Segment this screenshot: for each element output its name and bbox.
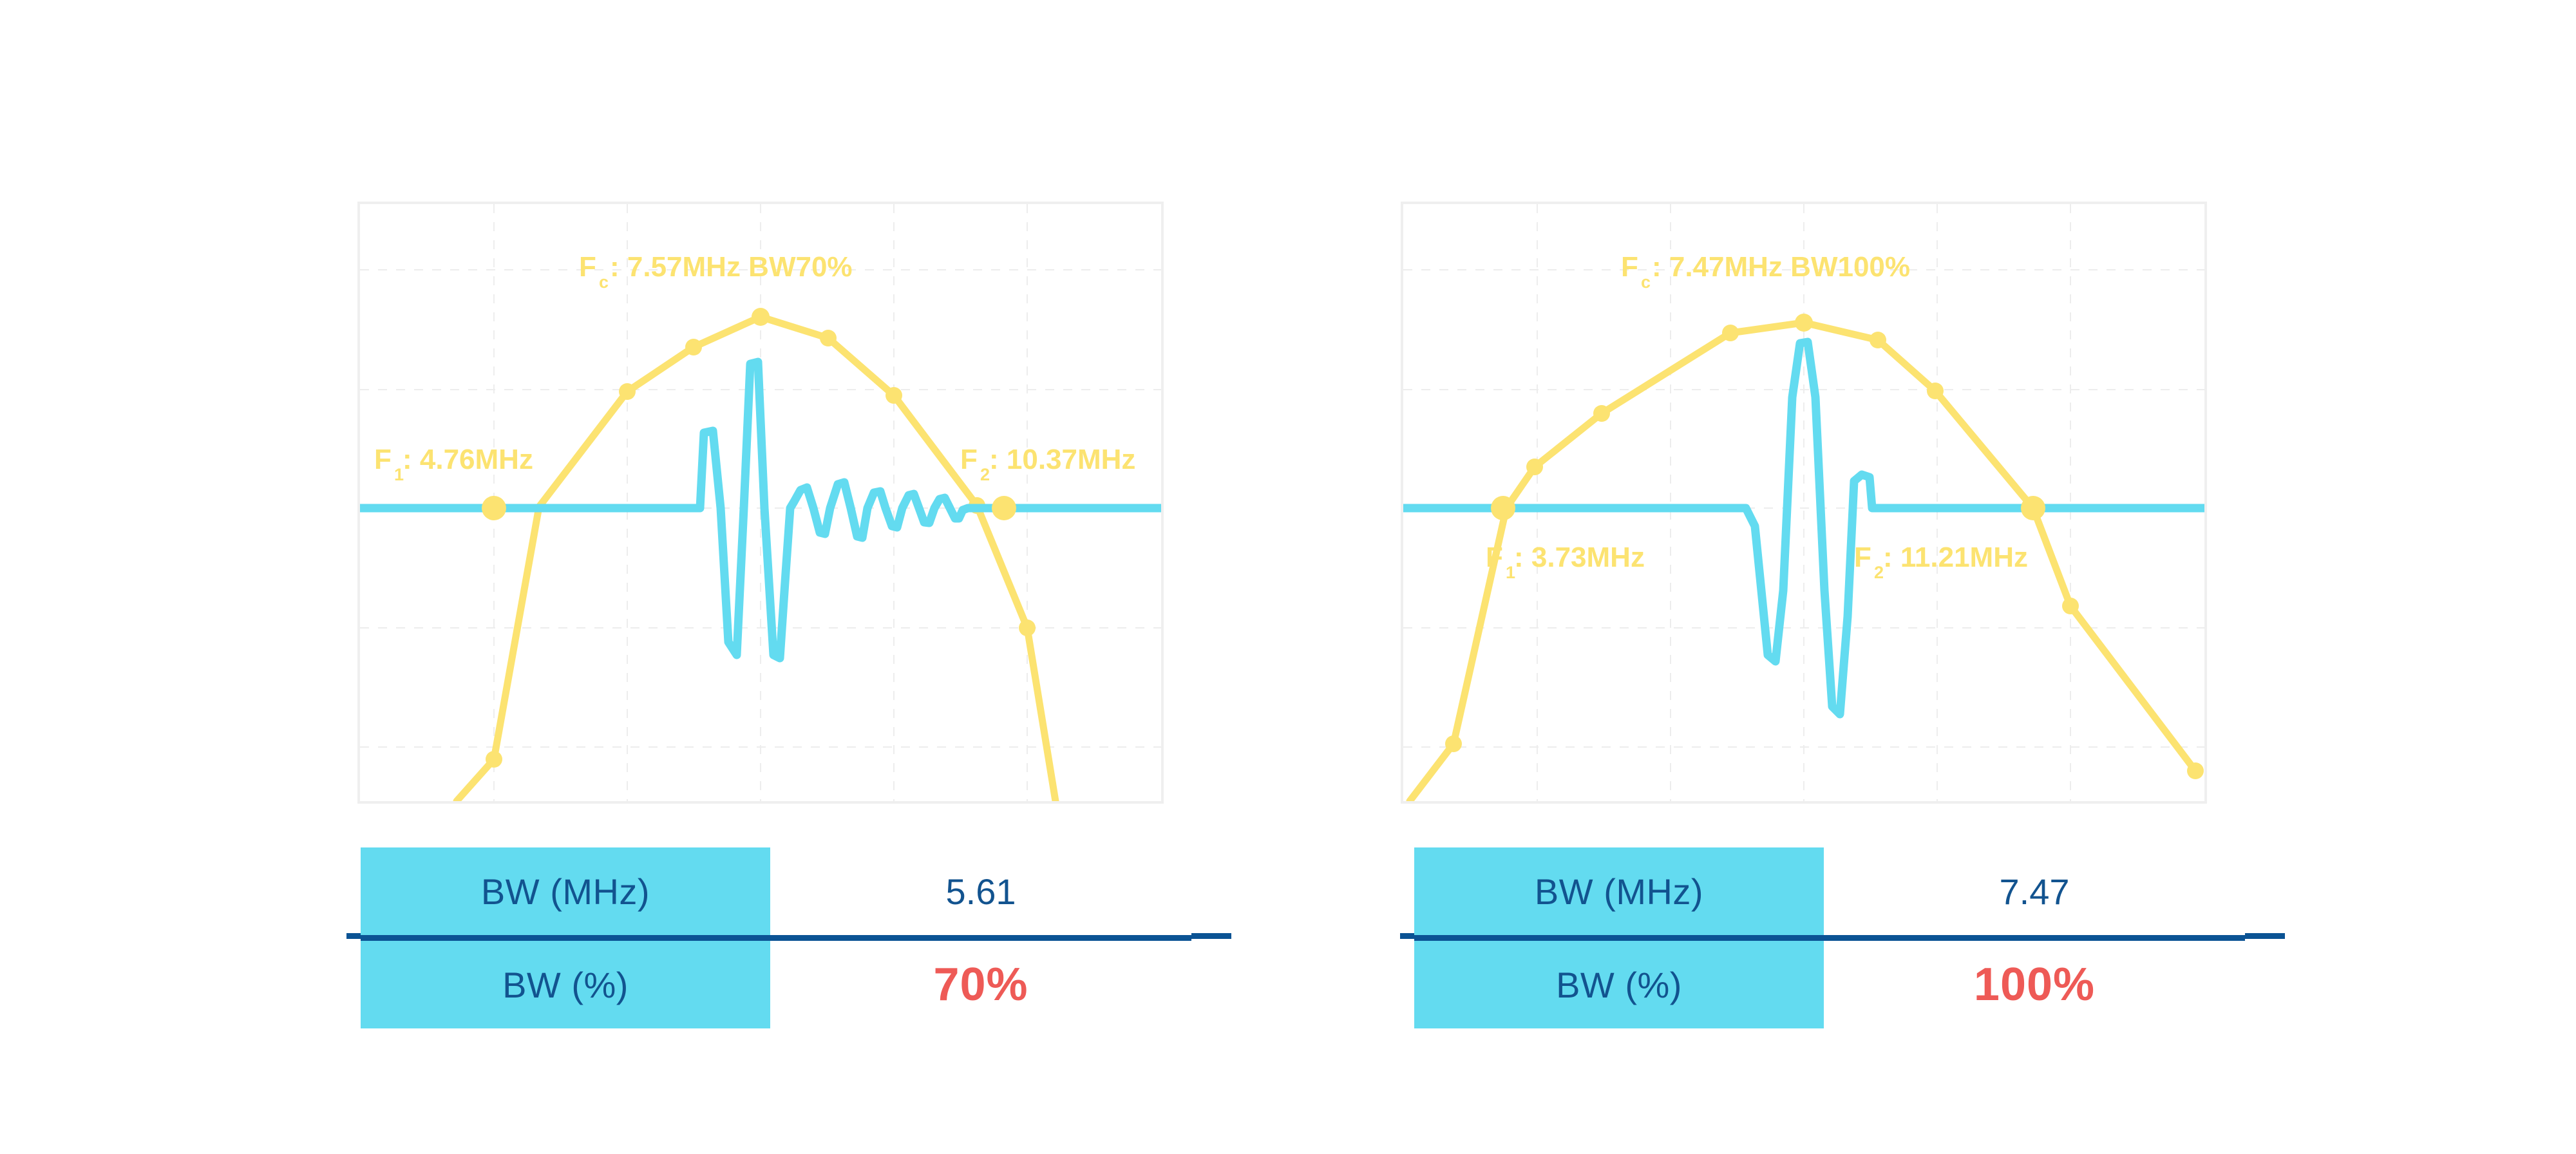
bw-pct-value-right: 100% [1824, 938, 2245, 1029]
table-row: BW (%) 70% [361, 938, 1191, 1029]
f1-marker-right [1491, 496, 1515, 520]
divider-extension-right [1400, 933, 1414, 939]
f1-prefix-right: F [1486, 542, 1503, 573]
bw-mhz-label-left: BW (MHz) [361, 847, 770, 938]
bandwidth-table-right: BW (MHz) 7.47 BW (%) 100% [1414, 847, 2245, 1028]
chart-frame-right: F c : 7.47MHz BW100% F 1 : 3.73MHz F 2 :… [1401, 202, 2207, 804]
f2-text-left: : 10.37MHz [989, 444, 1135, 475]
table-row: BW (MHz) 7.47 [1414, 847, 2245, 938]
f2-prefix-left: F [960, 444, 978, 475]
bw-mhz-label-right: BW (MHz) [1414, 847, 1824, 938]
f1-text-right: : 3.73MHz [1514, 542, 1645, 573]
spectrum-chart-right: F c : 7.47MHz BW100% F 1 : 3.73MHz F 2 :… [1403, 204, 2204, 801]
f1-text-left: : 4.76MHz [402, 444, 533, 475]
fc-annotation-left: F c : 7.57MHz BW70% [579, 251, 853, 292]
fc-prefix-left: F [579, 251, 596, 283]
f2-annotation-right: F 2 : 11.21MHz [1854, 542, 2028, 582]
bw-mhz-value-right: 7.47 [1824, 847, 2245, 938]
f1-marker-left [482, 496, 506, 520]
bw-pct-label-left: BW (%) [361, 938, 770, 1029]
divider-extension-left [346, 933, 361, 939]
f2-text-right: : 11.21MHz [1883, 542, 2028, 573]
f2-annotation-left: F 2 : 10.37MHz [960, 444, 1135, 484]
fc-prefix-right: F [1621, 251, 1638, 283]
bw-mhz-value-left: 5.61 [770, 847, 1191, 938]
f1-annotation-left: F 1 : 4.76MHz [374, 444, 533, 484]
fc-text-right: : 7.47MHz BW100% [1652, 251, 1910, 283]
measurement-panel-right: F c : 7.47MHz BW100% F 1 : 3.73MHz F 2 :… [1401, 202, 2207, 804]
bw-pct-label-right: BW (%) [1414, 938, 1824, 1029]
divider-extension-left-right [1191, 933, 1231, 939]
fc-sub-left: c [599, 272, 609, 292]
f2-marker-right [2021, 496, 2045, 520]
fc-sub-right: c [1641, 272, 1651, 292]
fc-annotation-right: F c : 7.47MHz BW100% [1621, 251, 1910, 292]
f1-annotation-right: F 1 : 3.73MHz [1486, 542, 1645, 582]
f2-marker-left [992, 496, 1016, 520]
pulse-waveform-left [360, 362, 1161, 658]
chart-frame-left: F c : 7.57MHz BW70% F 1 : 4.76MHz F 2 : … [357, 202, 1164, 804]
divider-extension-right-right [2245, 933, 2285, 939]
chart-grid-right [1403, 204, 2204, 801]
f1-prefix-left: F [374, 444, 392, 475]
bw-pct-value-left: 70% [770, 938, 1191, 1029]
measurement-panel-left: F c : 7.57MHz BW70% F 1 : 4.76MHz F 2 : … [357, 202, 1164, 804]
f2-sub-left: 2 [980, 465, 990, 484]
table-row: BW (MHz) 5.61 [361, 847, 1191, 938]
f2-sub-right: 2 [1874, 563, 1884, 582]
bandwidth-table-left: BW (MHz) 5.61 BW (%) 70% [361, 847, 1191, 1028]
table-row: BW (%) 100% [1414, 938, 2245, 1029]
f2-prefix-right: F [1854, 542, 1871, 573]
spectrum-chart-left: F c : 7.57MHz BW70% F 1 : 4.76MHz F 2 : … [360, 204, 1161, 801]
fc-text-left: : 7.57MHz BW70% [610, 251, 853, 283]
